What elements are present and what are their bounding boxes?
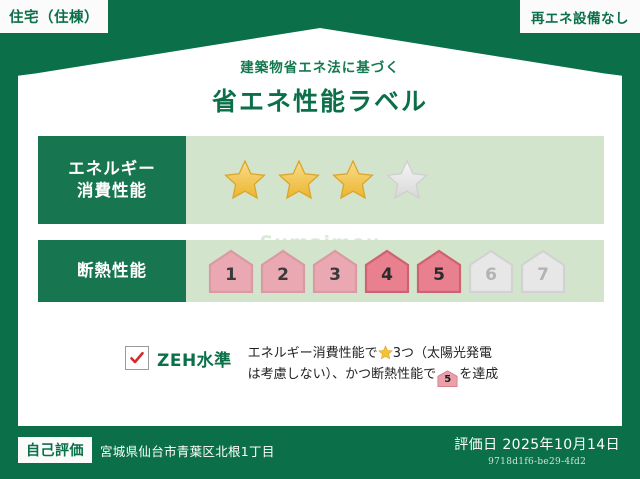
document-id: 9718d1f6-be29-4fd2 xyxy=(454,457,620,467)
insulation-label-text: 断熱性能 xyxy=(77,260,147,282)
insulation-grade-value: 5 xyxy=(433,265,445,293)
insulation-grade-1: 1 xyxy=(208,249,254,293)
energy-label-line2: 消費性能 xyxy=(77,180,147,202)
mini-star-icon xyxy=(378,345,393,360)
star-rating xyxy=(186,158,604,202)
energy-performance-row: エネルギー 消費性能 xyxy=(38,136,604,224)
insulation-grade-value: 3 xyxy=(329,265,341,293)
title-subtitle: 建築物省エネ法に基づく xyxy=(0,56,640,76)
insulation-grade-5: 5 xyxy=(416,249,462,293)
zeh-desc-stars: 3つ（太陽光発電 xyxy=(393,346,492,361)
mini-grade-badge: 5 xyxy=(437,370,458,387)
property-address: 宮城県仙台市青葉区北根1丁目 xyxy=(100,441,275,460)
star-filled-icon xyxy=(276,158,322,202)
zeh-desc-part2: は考慮しない）、かつ断熱性能で xyxy=(248,367,437,382)
energy-performance-label: 住宅（住棟） 再エネ設備なし 建築物省エネ法に基づく 省エネ性能ラベル Suma… xyxy=(0,0,640,479)
insulation-grade-value: 1 xyxy=(225,265,237,293)
star-filled-icon xyxy=(222,158,268,202)
star-empty-icon xyxy=(384,158,430,202)
insulation-grade-7: 7 xyxy=(520,249,566,293)
building-type-tag: 住宅（住棟） xyxy=(0,0,108,33)
insulation-grade-6: 6 xyxy=(468,249,514,293)
insulation-grade-value: 2 xyxy=(277,265,289,293)
zeh-label: ZEH水準 xyxy=(157,346,232,371)
renewable-energy-tag: 再エネ設備なし xyxy=(520,0,640,33)
insulation-grade-value: 6 xyxy=(485,265,497,293)
energy-performance-label: エネルギー 消費性能 xyxy=(38,136,186,224)
self-evaluation-tag: 自己評価 xyxy=(18,437,92,463)
insulation-performance-row: 断熱性能 1234567 xyxy=(38,240,604,302)
star-filled-icon xyxy=(330,158,376,202)
page-title: 省エネ性能ラベル xyxy=(0,82,640,118)
insulation-performance-label: 断熱性能 xyxy=(38,240,186,302)
insulation-grade-scale: 1234567 xyxy=(186,249,604,293)
insulation-grade-value: 7 xyxy=(537,265,549,293)
footer-left: 自己評価 宮城県仙台市青葉区北根1丁目 xyxy=(18,437,275,463)
zeh-standard-block: ZEH水準 エネルギー消費性能で 3つ（太陽光発電 は考慮しない）、かつ断熱性能… xyxy=(125,344,498,387)
evaluation-date: 評価日 2025年10月14日 xyxy=(454,434,620,454)
mini-grade-value: 5 xyxy=(437,370,458,390)
zeh-desc-part1: エネルギー消費性能で xyxy=(248,346,378,361)
zeh-desc-part3: を達成 xyxy=(459,367,498,382)
insulation-grade-4: 4 xyxy=(364,249,410,293)
zeh-checkbox xyxy=(125,346,149,370)
check-icon xyxy=(129,350,145,366)
insulation-grade-2: 2 xyxy=(260,249,306,293)
energy-label-line1: エネルギー xyxy=(68,158,156,180)
insulation-grade-value: 4 xyxy=(381,265,393,293)
insulation-grade-3: 3 xyxy=(312,249,358,293)
zeh-description: エネルギー消費性能で 3つ（太陽光発電 は考慮しない）、かつ断熱性能で 5を達成 xyxy=(248,344,499,387)
title-block: 建築物省エネ法に基づく 省エネ性能ラベル xyxy=(0,56,640,118)
footer-right: 評価日 2025年10月14日 9718d1f6-be29-4fd2 xyxy=(454,434,620,467)
